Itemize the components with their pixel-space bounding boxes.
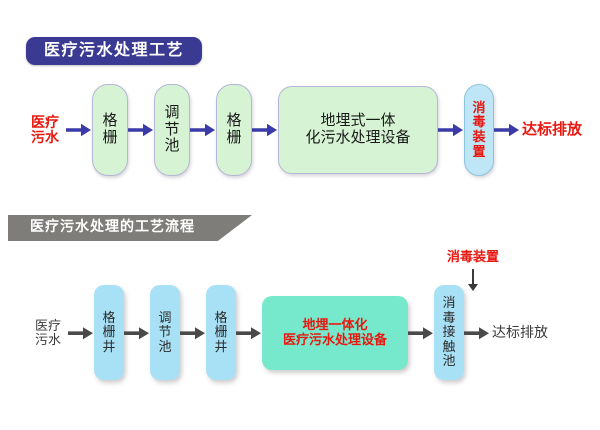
section1-input-label-line2: 污水 — [31, 130, 59, 145]
node-char: 格 — [226, 113, 241, 130]
arrow-right-icon — [236, 325, 262, 341]
node-char: 栅 — [102, 130, 117, 147]
diagram-page: 医疗污水处理工艺 医疗 污水 格 栅 调 节 池 格 栅 — [0, 0, 600, 430]
section2-node-1: 调 节 池 — [150, 285, 180, 380]
section2-input-label-line2: 污水 — [35, 333, 61, 347]
node-char: 毒 — [472, 115, 485, 130]
section2-input-label-line1: 医疗 — [35, 319, 61, 333]
section1-input-label: 医疗 污水 — [24, 115, 66, 144]
arrow-right-icon — [494, 122, 520, 138]
section1-node-4: 消 毒 装 置 — [464, 84, 494, 176]
node-char: 格 — [214, 311, 227, 326]
callout-label: 消毒装置 — [447, 250, 499, 263]
node-char: 栅 — [102, 325, 115, 340]
section2-node-3: 地埋一体化 医疗污水处理设备 — [262, 296, 408, 370]
section2-node-2: 格 栅 井 — [206, 285, 236, 380]
section2-node-4: 消 毒 接 触 池 — [434, 285, 464, 380]
section1-title-text: 医疗污水处理工艺 — [44, 43, 184, 59]
arrow-right-icon — [190, 122, 216, 138]
node-line: 医疗污水处理设备 — [283, 333, 387, 348]
section1-node-2: 格 栅 — [216, 84, 252, 176]
arrow-right-icon — [180, 325, 206, 341]
node-char: 井 — [214, 340, 227, 355]
section2-flow: 医疗 污水 格 栅 井 调 节 池 格 栅 井 — [28, 285, 548, 380]
arrow-right-icon — [464, 325, 490, 341]
arrow-right-icon — [128, 122, 154, 138]
node-char: 格 — [102, 113, 117, 130]
node-char: 格 — [102, 311, 115, 326]
section1-input-label-line1: 医疗 — [31, 115, 59, 130]
node-char: 置 — [472, 145, 485, 160]
section2-node-0: 格 栅 井 — [94, 285, 124, 380]
arrow-right-icon — [252, 122, 278, 138]
arrow-right-icon — [68, 325, 94, 341]
node-char: 毒 — [442, 311, 455, 326]
section1-node-1: 调 节 池 — [154, 84, 190, 176]
node-char: 调 — [164, 105, 179, 122]
node-char: 调 — [158, 311, 171, 326]
section2-title-text: 医疗污水处理的工艺流程 — [30, 221, 195, 235]
node-char: 消 — [472, 101, 485, 116]
arrow-right-icon — [438, 122, 464, 138]
arrow-right-icon — [124, 325, 150, 341]
node-char: 触 — [442, 340, 455, 355]
node-char: 池 — [164, 138, 179, 155]
node-char: 节 — [164, 122, 179, 139]
node-char: 池 — [158, 340, 171, 355]
node-char: 节 — [158, 325, 171, 340]
node-line: 地埋式一体 — [305, 113, 410, 130]
node-char: 接 — [442, 325, 455, 340]
node-char: 池 — [442, 354, 455, 369]
section1-flow: 医疗 污水 格 栅 调 节 池 格 栅 地 — [24, 84, 582, 176]
arrow-right-icon — [408, 325, 434, 341]
node-char: 栅 — [226, 130, 241, 147]
node-char: 装 — [472, 130, 485, 145]
section2-output-label: 达标排放 — [492, 325, 548, 340]
arrow-right-icon — [66, 122, 92, 138]
section1-node-0: 格 栅 — [92, 84, 128, 176]
section1-title-banner: 医疗污水处理工艺 — [26, 37, 202, 65]
section2-title-banner: 医疗污水处理的工艺流程 — [8, 215, 252, 241]
node-char: 消 — [442, 296, 455, 311]
node-line: 地埋一体化 — [283, 318, 387, 333]
node-char: 栅 — [214, 325, 227, 340]
section2-input-label: 医疗 污水 — [28, 319, 68, 346]
section1-output-label: 达标排放 — [522, 122, 582, 138]
node-char: 井 — [102, 340, 115, 355]
section1-node-3: 地埋式一体 化污水处理设备 — [278, 86, 438, 174]
node-line: 化污水处理设备 — [305, 130, 410, 147]
